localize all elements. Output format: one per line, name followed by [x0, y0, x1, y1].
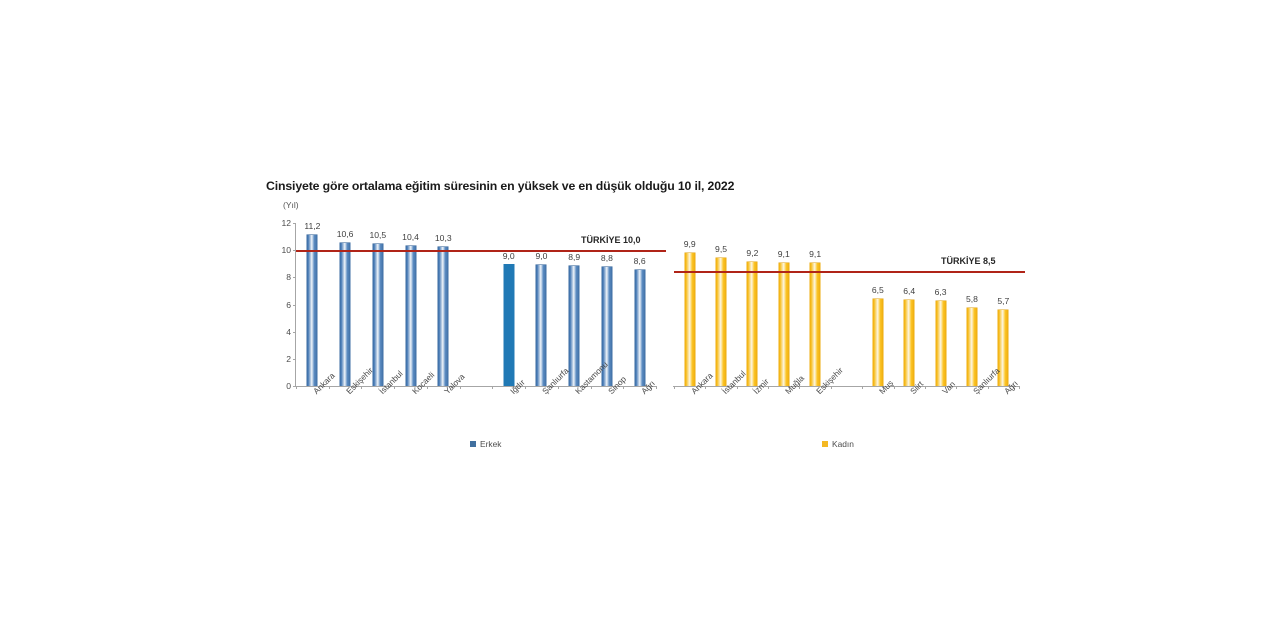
- y-tick-label: 10: [262, 245, 296, 255]
- legend-label-kadin: Kadın: [832, 439, 854, 449]
- bar-ankara: [307, 234, 318, 386]
- bar-value-label: 9,0: [503, 251, 515, 261]
- y-tick-mark: [293, 359, 296, 360]
- y-axis-unit-label: (Yıl): [283, 200, 299, 210]
- reference-line-turkiye: [674, 271, 1025, 273]
- bar-value-label: 5,7: [997, 296, 1009, 306]
- bar-slot: 9,0: [492, 223, 525, 386]
- bar-value-label: 10,3: [435, 233, 452, 243]
- x-tick-mark: [623, 386, 624, 389]
- plot-area-kadin: 9,99,59,29,19,16,56,46,35,85,7 Ankaraİst…: [674, 223, 1019, 386]
- bar-slot: 10,3: [427, 223, 460, 386]
- x-tick-mark: [737, 386, 738, 389]
- legend-label-erkek: Erkek: [480, 439, 501, 449]
- bar-eskişehir: [340, 242, 351, 386]
- bar-value-label: 9,9: [684, 239, 696, 249]
- plot-area-erkek: 11,210,610,510,410,39,09,08,98,88,6 Anka…: [296, 223, 656, 386]
- bar-value-label: 9,1: [778, 249, 790, 259]
- y-tick-label: 2: [262, 354, 296, 364]
- x-tick-mark: [361, 386, 362, 389]
- bar-value-label: 8,8: [601, 253, 613, 263]
- y-tick-label: 6: [262, 300, 296, 310]
- x-tick-mark: [988, 386, 989, 389]
- x-tick-mark: [956, 386, 957, 389]
- x-tick-mark: [591, 386, 592, 389]
- bar-value-label: 8,9: [568, 252, 580, 262]
- x-tick-mark: [427, 386, 428, 389]
- reference-line-turkiye: [296, 250, 666, 252]
- bar-slot: 6,5: [862, 223, 893, 386]
- bar-value-label: 10,5: [369, 230, 386, 240]
- y-tick-mark: [293, 332, 296, 333]
- x-tick-mark: [492, 386, 493, 389]
- bar-i̇stanbul: [372, 243, 383, 386]
- bar-slot: 9,1: [799, 223, 830, 386]
- bar-slot: 8,6: [623, 223, 656, 386]
- bar-slot: 10,5: [361, 223, 394, 386]
- y-tick-label: 12: [262, 218, 296, 228]
- bar-slot: 6,3: [925, 223, 956, 386]
- bar-i̇zmir: [747, 261, 758, 386]
- bar-muş: [872, 298, 883, 386]
- chart-page: Cinsiyete göre ortalama eğitim süresinin…: [0, 0, 1280, 640]
- x-tick-mark: [656, 386, 657, 389]
- bar-value-label: 9,1: [809, 249, 821, 259]
- x-axis-labels-kadin: AnkaraİstanbulİzmirMuğlaEskişehirMuşSiir…: [674, 386, 1019, 446]
- bar-value-label: 10,6: [337, 229, 354, 239]
- x-tick-mark: [558, 386, 559, 389]
- x-tick-mark: [1019, 386, 1020, 389]
- legend-kadin: Kadın: [822, 439, 854, 449]
- bar-i̇stanbul: [716, 257, 727, 386]
- y-tick-label: 8: [262, 272, 296, 282]
- x-tick-mark: [296, 386, 297, 389]
- bar-muğla: [778, 262, 789, 386]
- x-tick-mark: [925, 386, 926, 389]
- x-tick-mark: [674, 386, 675, 389]
- bar-value-label: 10,4: [402, 232, 419, 242]
- bar-kocaeli: [405, 245, 416, 386]
- bar-value-label: 6,3: [935, 287, 947, 297]
- bar-value-label: 6,4: [903, 286, 915, 296]
- y-tick-label: 0: [262, 381, 296, 391]
- legend-erkek: Erkek: [470, 439, 501, 449]
- x-tick-mark: [525, 386, 526, 389]
- bar-iğdır: [503, 264, 514, 386]
- x-axis-labels-erkek: AnkaraEskişehirİstanbulKocaeliYalovaIğdı…: [296, 386, 656, 446]
- x-tick-mark: [394, 386, 395, 389]
- bar-slot: 8,8: [591, 223, 624, 386]
- page-title: Cinsiyete göre ortalama eğitim süresinin…: [266, 179, 734, 193]
- bar-value-label: 5,8: [966, 294, 978, 304]
- bar-slot: 8,9: [558, 223, 591, 386]
- x-tick-mark: [329, 386, 330, 389]
- bar-value-label: 6,5: [872, 285, 884, 295]
- bar-slot: 10,6: [329, 223, 362, 386]
- bar-van: [935, 300, 946, 386]
- bar-value-label: 8,6: [634, 256, 646, 266]
- x-tick-mark: [768, 386, 769, 389]
- legend-swatch-kadin: [822, 441, 828, 447]
- x-tick-mark: [460, 386, 461, 389]
- chart-kadin: 9,99,59,29,19,16,56,46,35,85,7 Ankaraİst…: [660, 216, 1025, 456]
- bar-slot: 9,1: [768, 223, 799, 386]
- bar-value-label: 9,0: [535, 251, 547, 261]
- x-tick-mark: [799, 386, 800, 389]
- bar-value-label: 9,2: [746, 248, 758, 258]
- x-tick-mark: [831, 386, 832, 389]
- bar-şanlıurfa: [966, 307, 977, 386]
- bar-slot: 9,0: [525, 223, 558, 386]
- legend-swatch-erkek: [470, 441, 476, 447]
- bar-siirt: [904, 299, 915, 386]
- bar-slot: 9,2: [737, 223, 768, 386]
- x-tick-mark: [862, 386, 863, 389]
- bar-eskişehir: [810, 262, 821, 386]
- bar-value-label: 11,2: [304, 221, 320, 231]
- bar-slot: 10,4: [394, 223, 427, 386]
- bar-slot: 6,4: [894, 223, 925, 386]
- y-tick-mark: [293, 277, 296, 278]
- reference-line-label: TÜRKİYE 8,5: [941, 256, 996, 266]
- reference-line-label: TÜRKİYE 10,0: [581, 235, 641, 245]
- bar-yalova: [438, 246, 449, 386]
- bar-slot: 9,5: [705, 223, 736, 386]
- x-tick-mark: [705, 386, 706, 389]
- bar-slot: 11,2: [296, 223, 329, 386]
- bar-slot: 5,7: [988, 223, 1019, 386]
- y-tick-label: 4: [262, 327, 296, 337]
- bar-slot: 5,8: [956, 223, 987, 386]
- bar-kastamonu: [569, 265, 580, 386]
- bar-value-label: 9,5: [715, 244, 727, 254]
- x-tick-mark: [894, 386, 895, 389]
- y-tick-mark: [293, 305, 296, 306]
- bar-slot: 9,9: [674, 223, 705, 386]
- bar-ağrı: [634, 269, 645, 386]
- chart-erkek: 11,210,610,510,410,39,09,08,98,88,6 Anka…: [266, 216, 666, 456]
- bar-şanlıurfa: [536, 264, 547, 386]
- y-tick-mark: [293, 223, 296, 224]
- bar-group-kadin: 9,99,59,29,19,16,56,46,35,85,7: [674, 223, 1019, 386]
